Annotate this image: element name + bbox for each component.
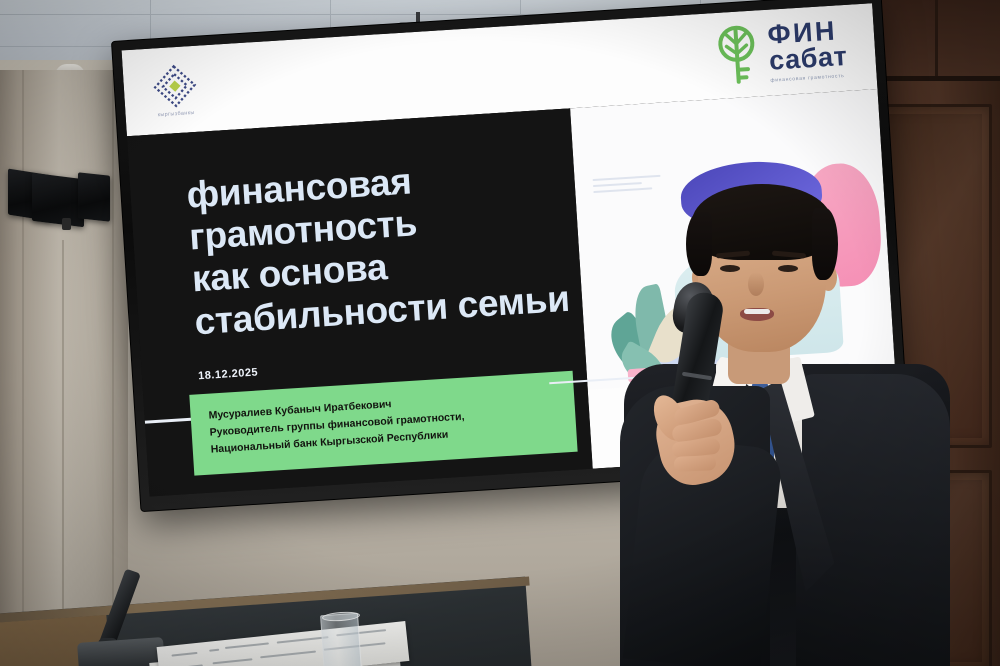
pillar-edge xyxy=(22,70,24,666)
nbkr-diamond-logo: кыргызбанкы xyxy=(150,61,216,127)
slide-date: 18.12.2025 xyxy=(198,366,259,382)
eye-left xyxy=(720,265,740,272)
hair xyxy=(692,184,832,260)
slide-title: финансовая грамотность как основа стабил… xyxy=(185,148,625,343)
wall-monitor xyxy=(78,172,110,221)
monitor-mount xyxy=(62,218,71,230)
wall-pillar xyxy=(0,70,128,666)
pillar-edge xyxy=(112,70,114,666)
nose xyxy=(748,272,764,296)
logo-word-sabat: сабат xyxy=(768,43,848,74)
speaker-info-box: Мусуралиев Кубаныч Иратбекович Руководит… xyxy=(189,371,577,476)
photo-scene: кыргызбанкы ФИН сабат xyxy=(0,0,1000,666)
pillar-edge xyxy=(62,240,64,666)
hair-side-left xyxy=(686,212,712,276)
mouth xyxy=(740,308,774,321)
logo-tagline: финансовая грамотность xyxy=(770,73,848,83)
fin-sabat-logo: ФИН сабат финансовая грамотность xyxy=(712,17,849,87)
door-transom-split xyxy=(935,0,938,76)
finger xyxy=(674,455,716,471)
eye-right xyxy=(778,265,798,272)
green-key-tree-icon xyxy=(712,22,762,87)
svg-text:кыргызбанкы: кыргызбанкы xyxy=(158,110,195,118)
hair-side-right xyxy=(812,208,838,280)
slide-text-panel: финансовая грамотность как основа стабил… xyxy=(127,108,592,496)
wall-monitor xyxy=(32,173,84,227)
conference-microphone-base[interactable] xyxy=(77,637,165,666)
fin-sabat-wordmark: ФИН сабат финансовая грамотность xyxy=(767,18,849,83)
presenter xyxy=(620,168,950,666)
